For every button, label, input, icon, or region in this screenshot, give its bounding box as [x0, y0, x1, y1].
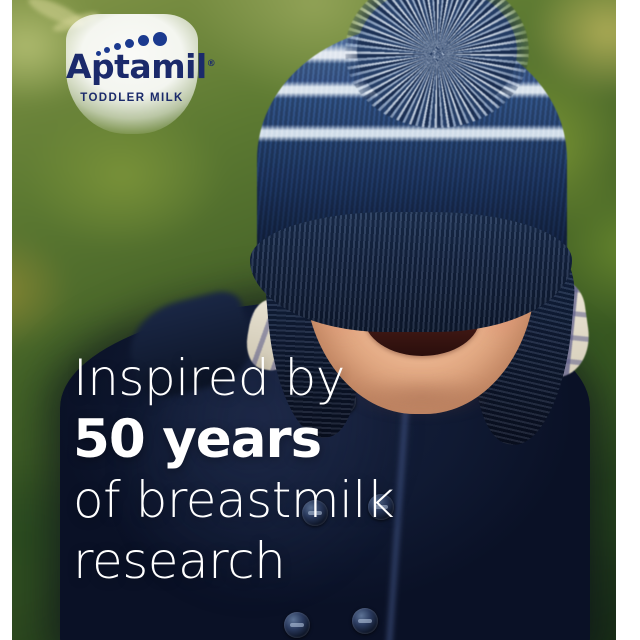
coat-button — [284, 612, 310, 638]
logo-dot — [153, 32, 167, 46]
logo-subtitle: TODDLER MILK — [66, 92, 198, 104]
hat-brim — [250, 212, 572, 332]
logo-brand-name: Aptamil — [66, 47, 207, 86]
logo-dot — [138, 35, 149, 46]
advertisement-banner: Aptamil® TODDLER MILK Inspired by 50 yea… — [0, 0, 640, 640]
coat-button — [352, 608, 378, 634]
knit-texture — [250, 212, 572, 332]
headline-line-3: of breastmilk — [73, 470, 543, 531]
hat-pompom — [357, 0, 517, 116]
aptamil-logo[interactable]: Aptamil® TODDLER MILK — [66, 14, 198, 134]
logo-wordmark: Aptamil® — [66, 50, 198, 83]
registered-trademark-icon: ® — [207, 59, 216, 69]
headline-line-4: research — [73, 531, 543, 592]
headline-line-1: Inspired by — [73, 348, 543, 409]
headline: Inspired by 50 years of breastmilk resea… — [73, 348, 543, 592]
headline-line-2: 50 years — [73, 409, 543, 470]
